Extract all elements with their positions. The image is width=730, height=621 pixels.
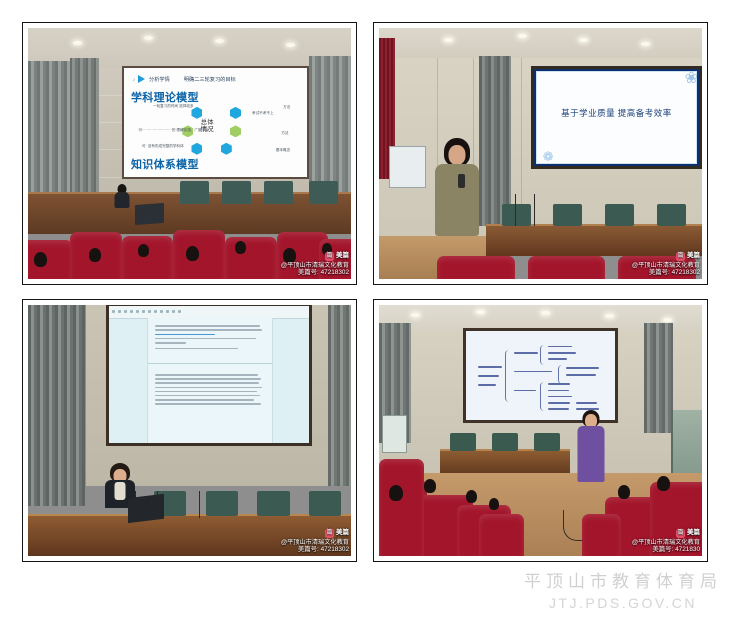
audience-seats bbox=[379, 451, 702, 556]
slide-note-2: 考试不考不上 bbox=[252, 111, 274, 116]
chair bbox=[534, 433, 560, 451]
slide-title: 基于学业质量 提高备考效率 bbox=[561, 107, 672, 119]
chair bbox=[657, 204, 686, 227]
whiteboard bbox=[382, 415, 407, 452]
photo-top-right-image: ❀ ❁ 基于学业质量 提高备考效率 bbox=[379, 28, 702, 279]
flower-decor-icon: ❁ bbox=[543, 149, 554, 165]
document-paragraph bbox=[155, 374, 265, 408]
photo-bottom-left-image: 篇 美篇 @平顶山市清瑞文化教育 美篇号: 47218302 bbox=[28, 305, 351, 556]
hex-icon-blue-2 bbox=[230, 107, 241, 119]
whiteboard bbox=[389, 146, 427, 188]
slide-note-3: 方法 bbox=[283, 105, 290, 110]
ceiling-light bbox=[144, 36, 153, 40]
ceiling-light bbox=[444, 38, 453, 42]
chair bbox=[206, 491, 238, 516]
projection-screen bbox=[106, 305, 313, 446]
presenter-coat bbox=[435, 164, 479, 236]
photo-top-left[interactable]: 2 分析学情 明确二三轮复习的目标 学科理论模型 总体 bbox=[22, 22, 357, 285]
slide-title-bottom: 知识体系模型 bbox=[131, 156, 199, 172]
curtain-right bbox=[328, 305, 351, 486]
photo-collage-grid: 2 分析学情 明确二三轮复习的目标 学科理论模型 总体 bbox=[22, 22, 708, 562]
document-page bbox=[147, 318, 273, 443]
chair bbox=[309, 491, 341, 516]
slide-note-5: 方法 bbox=[281, 131, 288, 136]
chair bbox=[492, 433, 518, 451]
slide-page-number: 2 bbox=[133, 77, 135, 82]
hex-icon-blue-1 bbox=[191, 107, 202, 119]
chair bbox=[553, 204, 582, 227]
slide-header-goal: 明确二三轮复习的目标 bbox=[184, 76, 236, 83]
document-paragraph bbox=[155, 325, 265, 352]
projection-screen bbox=[463, 328, 618, 423]
photo-bottom-left[interactable]: 篇 美篇 @平顶山市清瑞文化教育 美篇号: 47218302 bbox=[22, 299, 357, 562]
ceiling-light bbox=[641, 42, 650, 46]
laptop bbox=[128, 494, 164, 523]
photo-bottom-right[interactable]: 篇 美篇 @平顶山市清瑞文化教育 美篇号: 4721830 bbox=[373, 299, 708, 562]
hex-icon-green-2 bbox=[230, 125, 241, 137]
presenter-face bbox=[448, 145, 465, 165]
ceiling-light bbox=[73, 41, 82, 45]
photo-bottom-right-image: 篇 美篇 @平顶山市清瑞文化教育 美篇号: 4721830 bbox=[379, 305, 702, 556]
slide-content: 2 分析学情 明确二三轮复习的目标 学科理论模型 总体 bbox=[124, 68, 307, 177]
hex-icon-blue-4 bbox=[221, 143, 232, 155]
chair bbox=[264, 181, 293, 204]
slide-content: ❀ ❁ 基于学业质量 提高备考效率 bbox=[536, 71, 697, 164]
ceiling-light bbox=[663, 318, 672, 322]
curtain-right bbox=[644, 323, 673, 433]
document-toolbar bbox=[109, 306, 313, 319]
seated-presenter bbox=[109, 184, 135, 224]
presenter-body bbox=[114, 192, 129, 208]
ceiling-light bbox=[605, 314, 614, 318]
photo-top-right[interactable]: ❀ ❁ 基于学业质量 提高备考效率 bbox=[373, 22, 708, 285]
projection-screen: 2 分析学情 明确二三轮复习的目标 学科理论模型 总体 bbox=[122, 66, 309, 179]
handwriting-slide bbox=[466, 331, 615, 420]
slide-header-topic: 分析学情 bbox=[149, 76, 170, 83]
slide-header: 2 分析学情 明确二三轮复习的目标 bbox=[133, 75, 302, 83]
site-watermark-organization: 平顶山市教育体育局 bbox=[524, 571, 722, 594]
microphone-icon bbox=[458, 174, 465, 188]
standing-presenter bbox=[424, 138, 489, 269]
site-watermark: 平顶山市教育体育局 JTJ.PDS.GOV.CN bbox=[524, 571, 722, 613]
chair bbox=[222, 181, 251, 204]
chair bbox=[450, 433, 476, 451]
slide-note-4: 可·························的 理解实施、广度不足 bbox=[138, 128, 208, 133]
conference-table bbox=[486, 224, 702, 256]
chevron-right-icon bbox=[138, 75, 145, 83]
chair bbox=[257, 491, 289, 516]
slide-note-6: 可· 没有形成完整的学科体 bbox=[142, 144, 184, 149]
audience-seats bbox=[28, 219, 351, 279]
slide-note-1: 一轮复习的时间 选择较多 bbox=[153, 104, 194, 109]
projection-screen: ❀ ❁ 基于学业质量 提高备考效率 bbox=[531, 66, 702, 169]
hex-icon-blue-3 bbox=[191, 143, 202, 155]
photo-top-left-image: 2 分析学情 明确二三轮复习的目标 学科理论模型 总体 bbox=[28, 28, 351, 279]
slide-note-7: 基本概念 bbox=[276, 148, 290, 153]
document-slide bbox=[109, 306, 310, 443]
chair bbox=[605, 204, 634, 227]
chair bbox=[180, 181, 209, 204]
ceiling bbox=[379, 28, 702, 61]
flower-decor-icon: ❀ bbox=[685, 68, 698, 88]
ceiling-light bbox=[411, 313, 420, 317]
presenter-shirt bbox=[115, 482, 126, 500]
chair bbox=[309, 181, 338, 204]
ceiling-light bbox=[476, 310, 485, 314]
front-seat-row bbox=[379, 256, 702, 279]
site-watermark-url: JTJ.PDS.GOV.CN bbox=[524, 594, 722, 613]
conference-table bbox=[28, 514, 351, 556]
curtain-left bbox=[28, 305, 86, 506]
chair bbox=[502, 204, 531, 227]
